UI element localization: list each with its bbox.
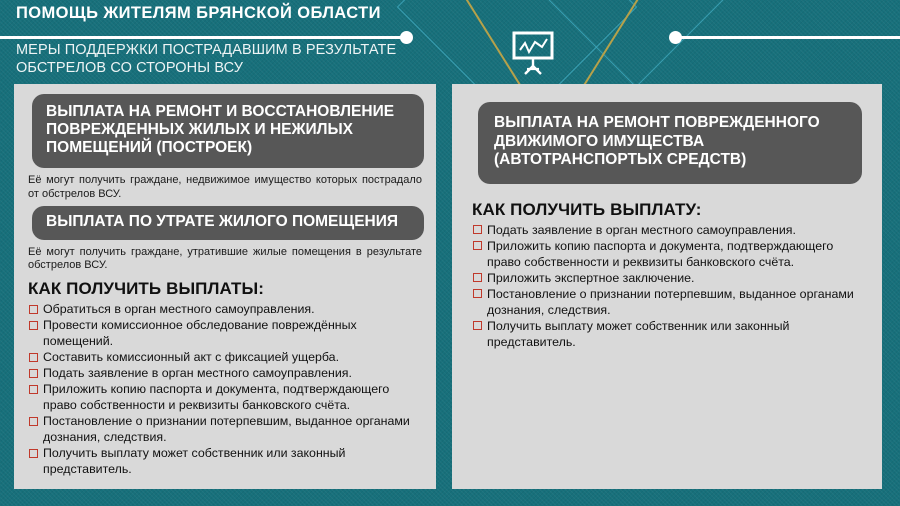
steps-list-right: Подать заявление в орган местного самоуп… (464, 222, 870, 350)
page-title: ПОМОЩЬ ЖИТЕЛЯМ БРЯНСКОЙ ОБЛАСТИ (16, 4, 381, 23)
left-content-panel: ВЫПЛАТА НА РЕМОНТ И ВОССТАНОВЛЕНИЕ ПОВРЕ… (14, 84, 436, 489)
list-item: Приложить экспертное заключение. (472, 270, 870, 286)
diamond-outline-decoration-2 (529, 0, 744, 87)
right-content-panel: ВЫПЛАТА НА РЕМОНТ ПОВРЕЖДЕННОГО ДВИЖИМОГ… (452, 84, 882, 489)
list-item: Провести комиссионное обследование повре… (28, 317, 426, 349)
list-item: Подать заявление в орган местного самоуп… (28, 365, 426, 381)
card-note-repair-buildings: Её могут получить граждане, недвижимое и… (28, 174, 422, 201)
list-item: Получить выплату может собственник или з… (472, 318, 870, 350)
list-item: Приложить копию паспорта и документа, по… (472, 238, 870, 270)
list-item: Получить выплату может собственник или з… (28, 445, 426, 477)
list-item: Постановление о признании потерпевшим, в… (472, 286, 870, 318)
header-rule-dot-right (669, 31, 682, 44)
list-item: Постановление о признании потерпевшим, в… (28, 413, 426, 445)
presentation-chart-icon (508, 28, 558, 78)
header-rule-left (0, 36, 406, 39)
list-item: Обратиться в орган местного самоуправлен… (28, 301, 426, 317)
header-rule-right (676, 36, 900, 39)
section-title-how-to-right: КАК ПОЛУЧИТЬ ВЫПЛАТУ: (472, 200, 870, 220)
steps-list-left: Обратиться в орган местного самоуправлен… (24, 301, 426, 477)
list-item: Составить комиссионный акт с фиксацией у… (28, 349, 426, 365)
list-item: Подать заявление в орган местного самоуп… (472, 222, 870, 238)
card-title-loss-of-housing: ВЫПЛАТА ПО УТРАТЕ ЖИЛОГО ПОМЕЩЕНИЯ (32, 206, 424, 240)
slide-canvas: ПОМОЩЬ ЖИТЕЛЯМ БРЯНСКОЙ ОБЛАСТИ МЕРЫ ПОД… (0, 0, 900, 506)
card-title-repair-buildings: ВЫПЛАТА НА РЕМОНТ И ВОССТАНОВЛЕНИЕ ПОВРЕ… (32, 94, 424, 168)
list-item: Приложить копию паспорта и документа, по… (28, 381, 426, 413)
card-title-repair-vehicles: ВЫПЛАТА НА РЕМОНТ ПОВРЕЖДЕННОГО ДВИЖИМОГ… (478, 102, 862, 184)
section-title-how-to-left: КАК ПОЛУЧИТЬ ВЫПЛАТЫ: (28, 279, 426, 299)
card-note-loss-of-housing: Её могут получить граждане, утратившие ж… (28, 246, 422, 273)
page-subtitle: МЕРЫ ПОДДЕРЖКИ ПОСТРАДАВШИМ В РЕЗУЛЬТАТЕ… (16, 42, 426, 77)
